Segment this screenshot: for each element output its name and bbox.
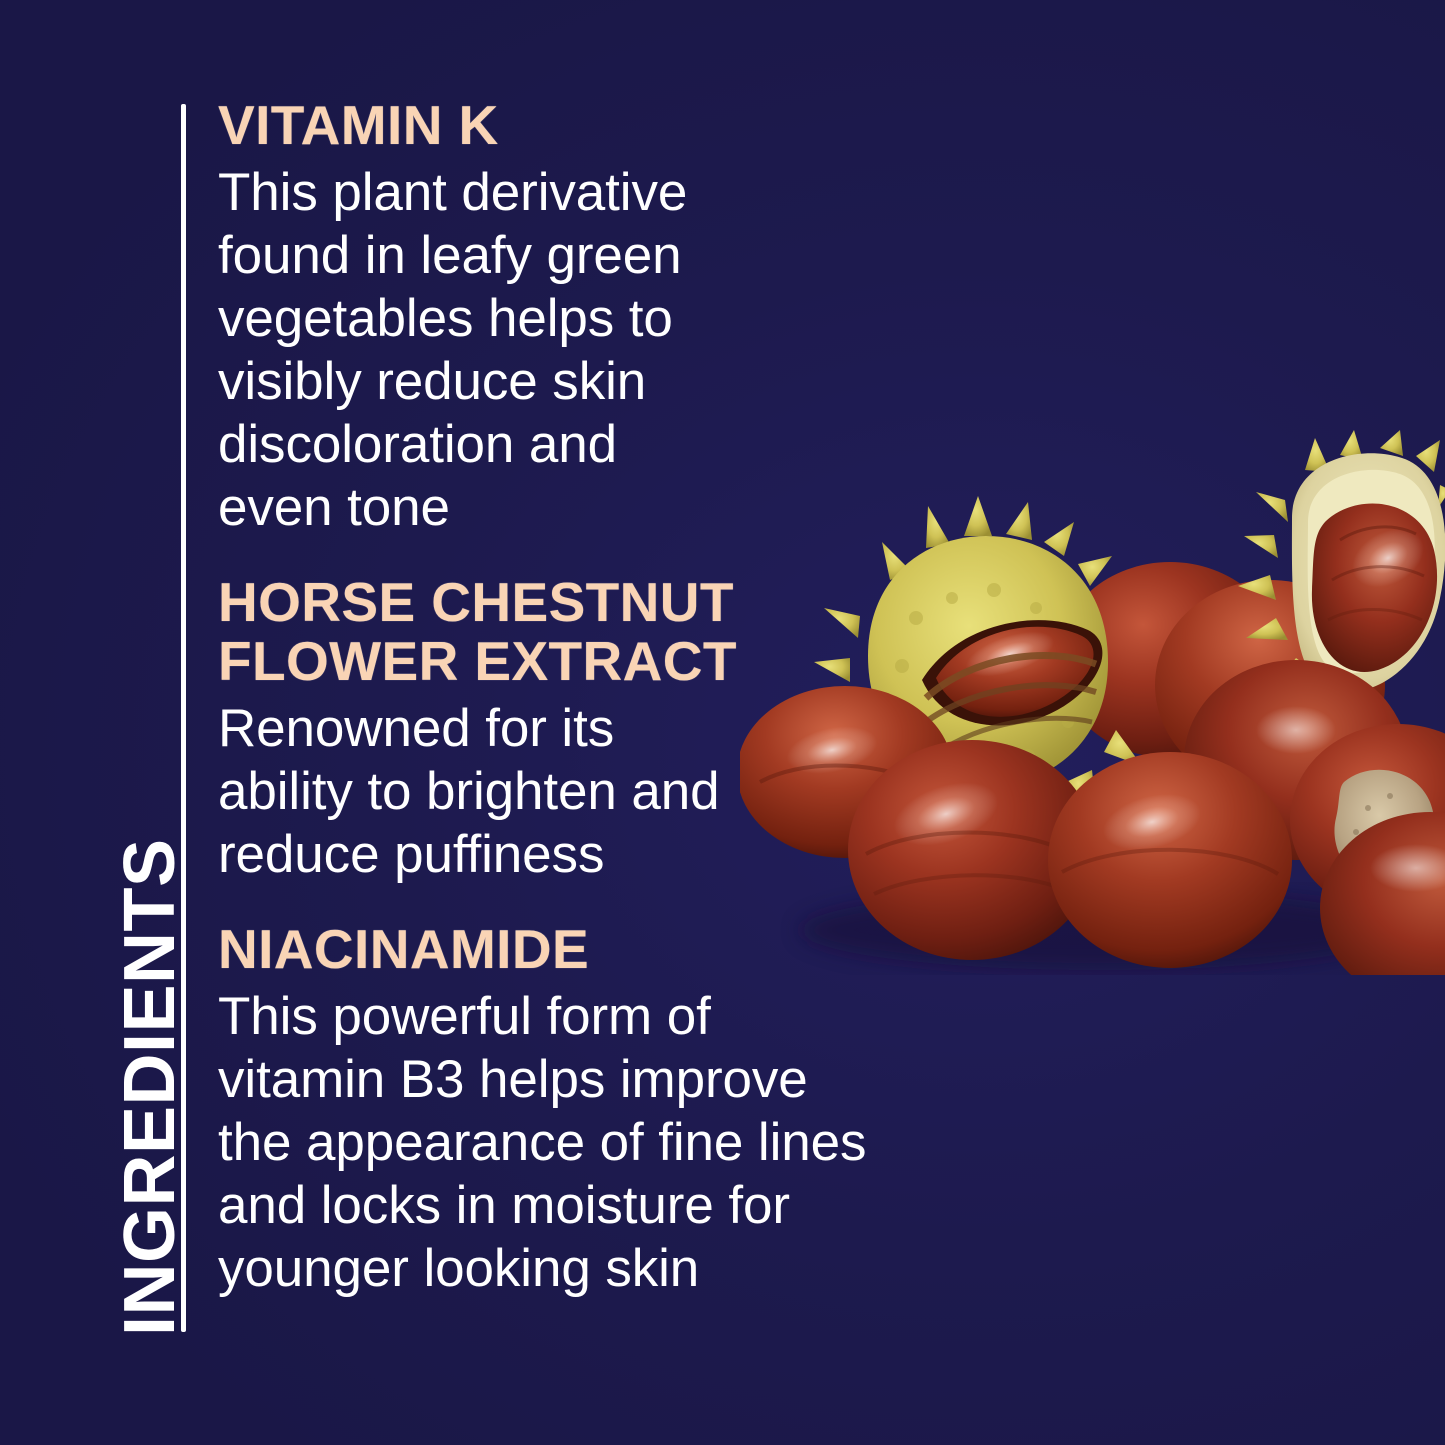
- description-line: Renowned for its: [218, 697, 898, 760]
- ingredient-vitamin-k: VITAMIN K This plant derivative found in…: [218, 96, 918, 539]
- ingredient-horse-chestnut-flower-extract: HORSE CHESTNUT FLOWER EXTRACT Renowned f…: [218, 573, 918, 886]
- description-line: discoloration and: [218, 413, 898, 476]
- ingredients-vertical-label: INGREDIENTS: [114, 816, 186, 1336]
- description-line: visibly reduce skin: [218, 350, 898, 413]
- description-line: and locks in moisture for: [218, 1174, 898, 1237]
- heading-line: FLOWER EXTRACT: [218, 630, 737, 692]
- description-line: even tone: [218, 476, 898, 539]
- description-line: found in leafy green: [218, 224, 898, 287]
- description-line: vegetables helps to: [218, 287, 898, 350]
- ingredients-list: VITAMIN K This plant derivative found in…: [218, 96, 918, 1300]
- description-line: the appearance of fine lines: [218, 1111, 898, 1174]
- ingredients-panel: INGREDIENTS VITAMIN K This plant derivat…: [0, 0, 1445, 1445]
- ingredient-niacinamide: NIACINAMIDE This powerful form of vitami…: [218, 920, 918, 1300]
- description-line: This powerful form of: [218, 985, 898, 1048]
- ingredient-description: This powerful form of vitamin B3 helps i…: [218, 985, 898, 1300]
- heading-line: HORSE CHESTNUT: [218, 571, 734, 633]
- description-line: younger looking skin: [218, 1237, 898, 1300]
- description-line: ability to brighten and: [218, 760, 898, 823]
- ingredient-heading: HORSE CHESTNUT FLOWER EXTRACT: [218, 573, 918, 691]
- ingredient-heading: VITAMIN K: [218, 96, 918, 155]
- ingredient-description: This plant derivative found in leafy gre…: [218, 161, 898, 539]
- ingredient-heading: NIACINAMIDE: [218, 920, 918, 979]
- description-line: vitamin B3 helps improve: [218, 1048, 898, 1111]
- description-line: This plant derivative: [218, 161, 898, 224]
- ingredient-description: Renowned for its ability to brighten and…: [218, 697, 898, 886]
- description-line: reduce puffiness: [218, 823, 898, 886]
